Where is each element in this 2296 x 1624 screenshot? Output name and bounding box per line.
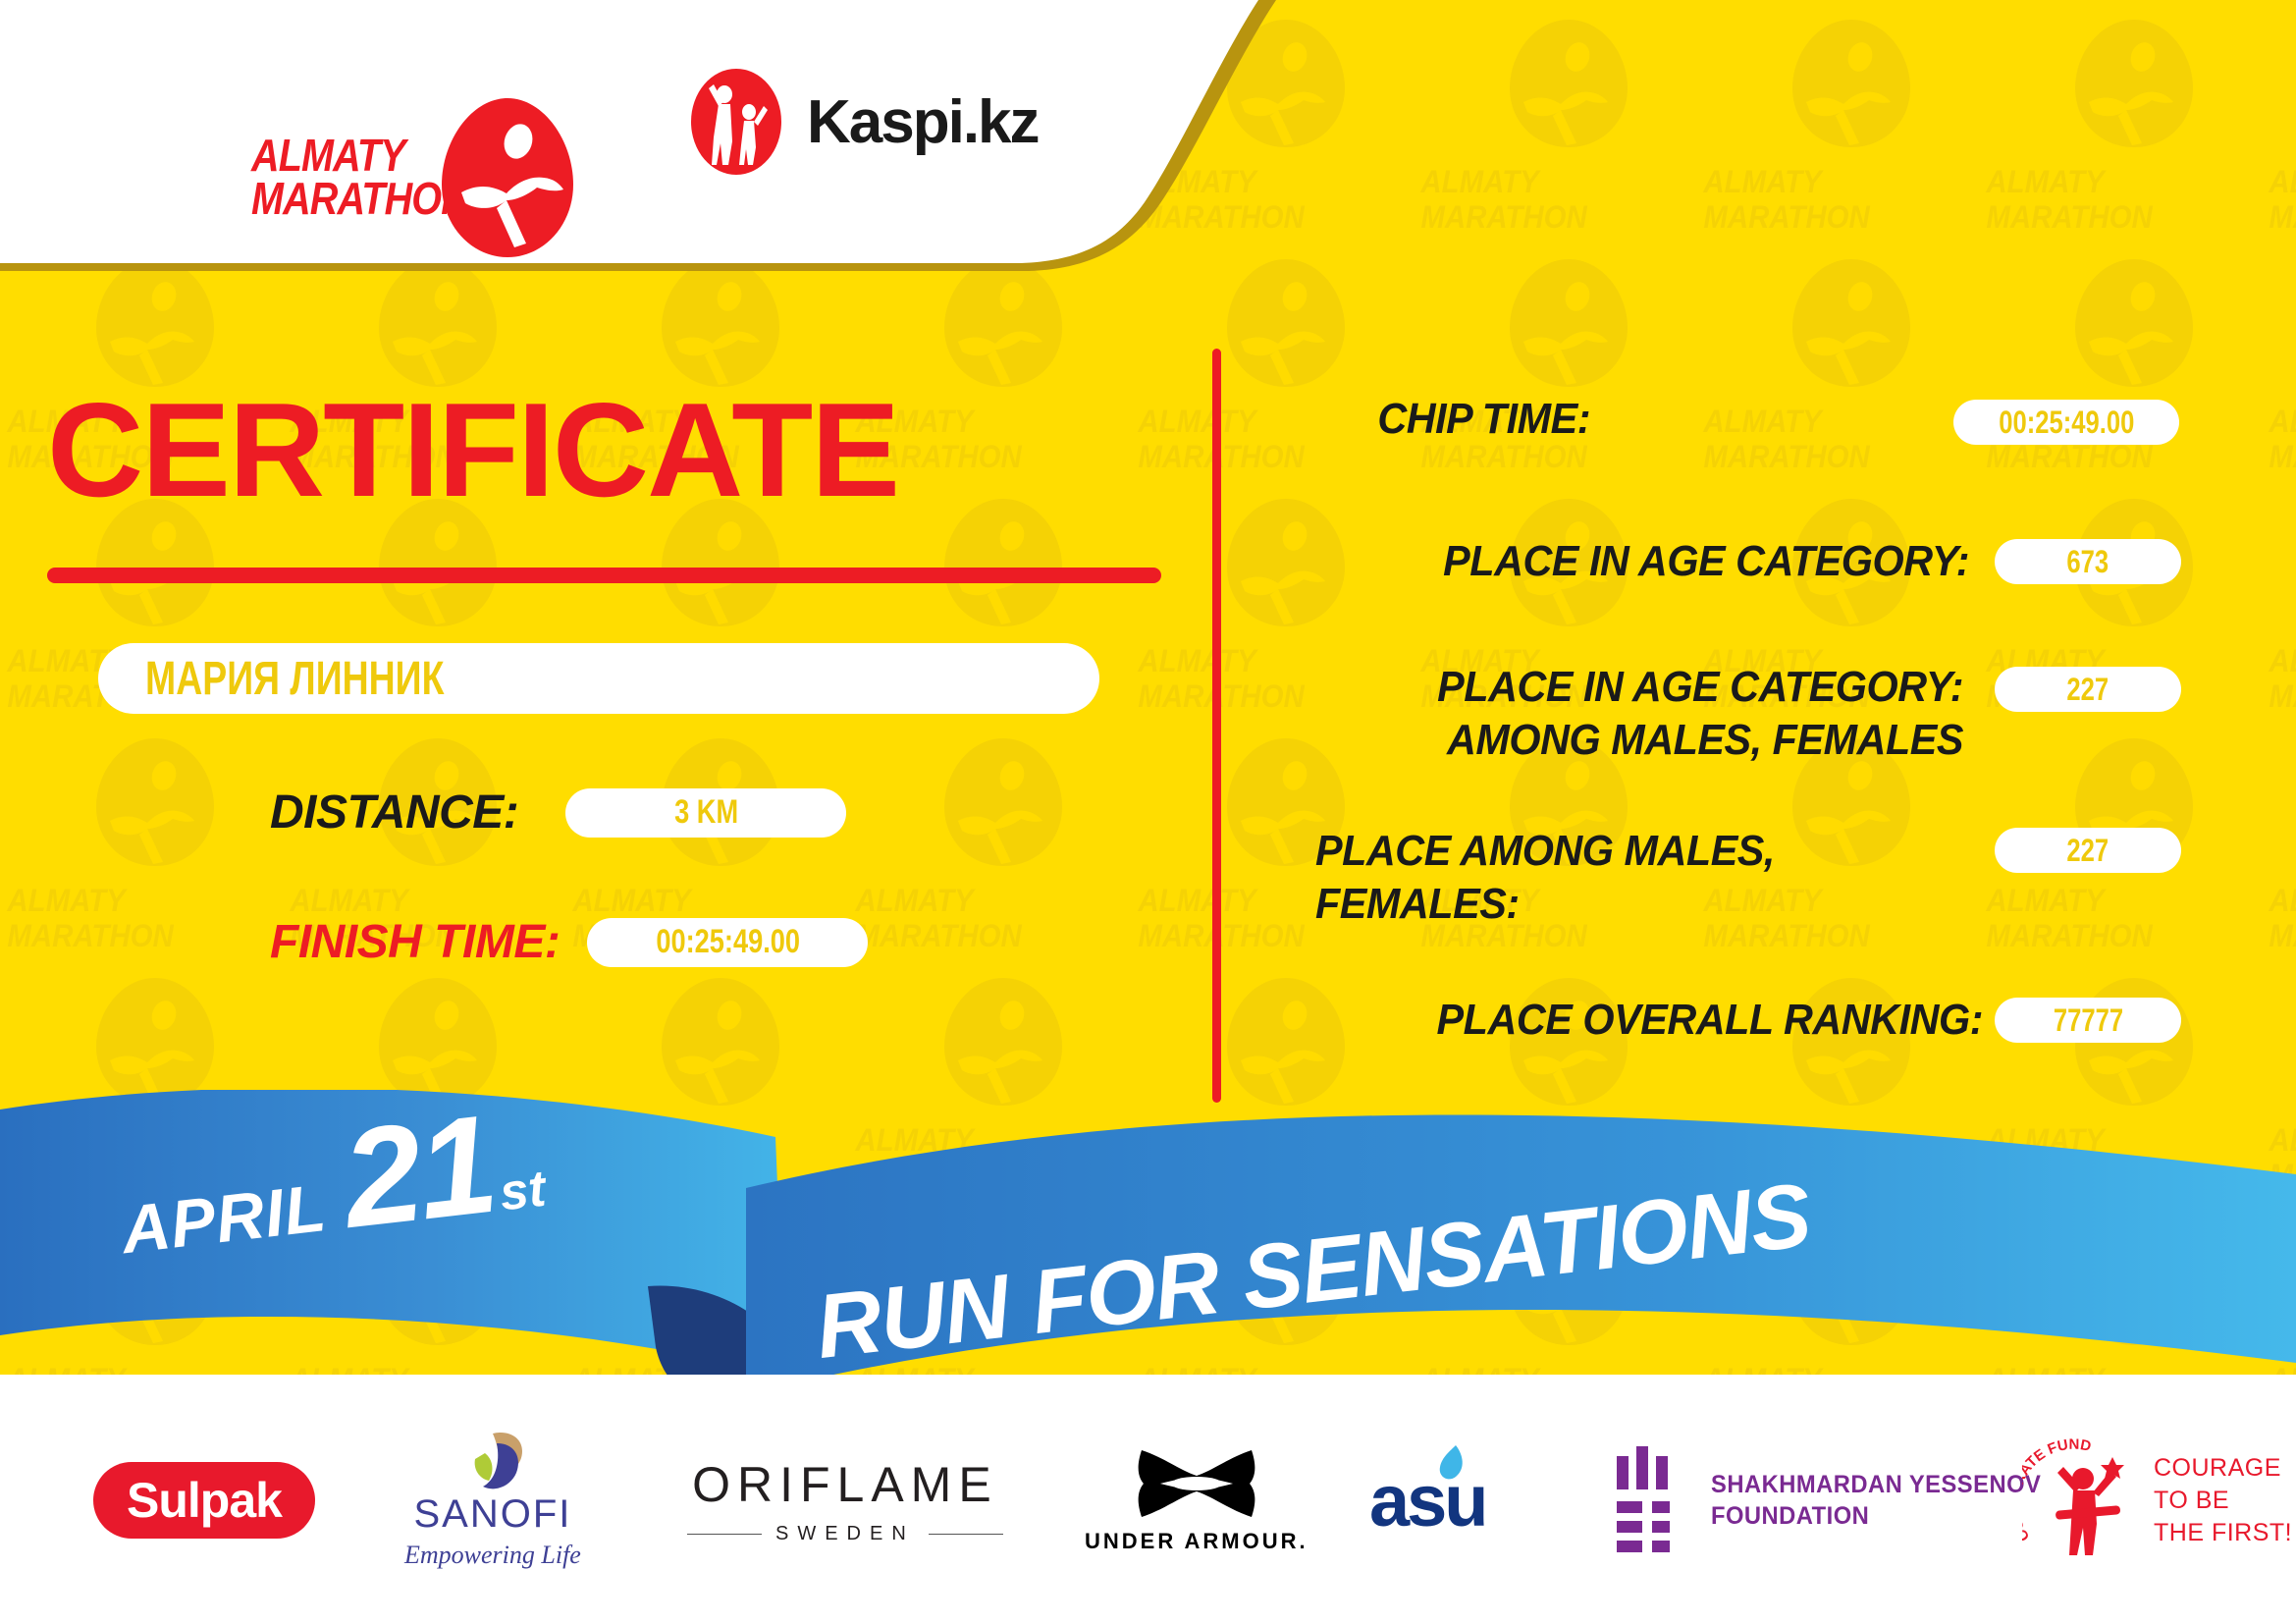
result-place-age-category-among-value: 227 xyxy=(2067,672,2109,708)
oriflame-wordmark: ORIFLAME xyxy=(692,1456,998,1513)
result-chip-time-value: 00:25:49.00 xyxy=(1999,405,2134,441)
field-finish-time: FINISH TIME: 00:25:49.00 xyxy=(270,915,868,969)
result-place-overall-ranking-pill: 77777 xyxy=(1995,998,2181,1043)
courage-wordmark: COURAGE TO BE THE FIRST! xyxy=(2154,1452,2292,1549)
almaty-marathon-logo: ALMATY MARATHON xyxy=(126,47,450,204)
yessenov-wordmark: SHAKHMARDAN YESSENOV FOUNDATION xyxy=(1711,1469,2041,1532)
sponsor-bar: Sulpak SANOFI Empowering Life ORIFLAME S… xyxy=(0,1422,2296,1579)
under-armour-wordmark: UNDER ARMOUR. xyxy=(1085,1529,1308,1554)
result-place-age-category-among-label: PLACE IN AGE CATEGORY: AMONG MALES, FEMA… xyxy=(1355,661,1963,767)
kaspi-person-icon xyxy=(687,67,785,177)
sanofi-wordmark: SANOFI xyxy=(413,1492,571,1537)
page-title: CERTIFICATE xyxy=(47,383,898,516)
oriflame-rule-left xyxy=(687,1534,762,1535)
sponsor-yessenov: SHAKHMARDAN YESSENOV FOUNDATION xyxy=(1615,1422,2058,1579)
courage-line-1: COURAGE xyxy=(2154,1452,2292,1485)
column-divider xyxy=(1212,349,1221,1103)
result-chip-time-label: CHIP TIME: xyxy=(1332,393,1590,446)
courage-line-3: THE FIRST! xyxy=(2154,1517,2292,1549)
courage-runner-icon: CORPORATE FUND xyxy=(2022,1437,2138,1563)
asu-droplet-icon xyxy=(1434,1443,1468,1485)
result-place-overall-ranking-value: 77777 xyxy=(2053,1002,2122,1039)
field-distance: DISTANCE: 3 KM xyxy=(270,785,846,839)
courage-line-2: TO BE xyxy=(2154,1485,2292,1517)
result-place-among-males-females-pill: 227 xyxy=(1995,828,2181,873)
sponsor-oriflame: ORIFLAME SWEDEN xyxy=(687,1422,1003,1579)
asu-wordmark: asu xyxy=(1369,1459,1486,1543)
result-place-among-males-females-value: 227 xyxy=(2067,833,2109,869)
kaspi-wordmark: Kaspi.kz xyxy=(807,87,1039,157)
yessenov-bars-icon xyxy=(1615,1446,1685,1554)
sponsor-courage-fund: CORPORATE FUND COURAGE TO BE THE FIRST! xyxy=(2022,1422,2292,1579)
under-armour-logo-icon xyxy=(1132,1446,1261,1521)
participant-name: МАРИЯ ЛИННИК xyxy=(145,648,444,711)
field-finish-time-label: FINISH TIME: xyxy=(270,915,560,969)
oriflame-subtitle-row: SWEDEN xyxy=(687,1523,1003,1545)
oriflame-rule-right xyxy=(929,1534,1003,1535)
almaty-marathon-runner-drop-icon xyxy=(438,94,577,261)
header-logos: ALMATY MARATHON xyxy=(0,0,1374,295)
result-place-overall-ranking-label: PLACE OVERALL RANKING: xyxy=(1356,994,1983,1047)
certificate-canvas: ALMATY MARATHON ALMATY MARATHON xyxy=(0,0,2296,1624)
oriflame-subtitle: SWEDEN xyxy=(775,1523,915,1545)
event-day-ordinal: st xyxy=(497,1160,549,1223)
result-place-age-category-value: 673 xyxy=(2067,544,2109,580)
result-place-age-category-label: PLACE IN AGE CATEGORY: xyxy=(1355,535,1969,588)
result-place-among-males-females-label: PLACE AMONG MALES, FEMALES: xyxy=(1315,825,1888,931)
field-finish-time-value: 00:25:49.00 xyxy=(656,923,800,961)
field-distance-pill: 3 KM xyxy=(565,788,846,838)
sanofi-tagline: Empowering Life xyxy=(404,1541,581,1570)
sponsor-under-armour: UNDER ARMOUR. xyxy=(1085,1422,1308,1579)
field-finish-time-pill: 00:25:49.00 xyxy=(587,918,868,967)
sulpak-wordmark: Sulpak xyxy=(93,1462,315,1539)
sanofi-bird-icon xyxy=(457,1432,528,1492)
field-distance-label: DISTANCE: xyxy=(270,785,518,839)
result-place-age-category-pill: 673 xyxy=(1995,539,2181,584)
result-place-age-category-among-pill: 227 xyxy=(1995,667,2181,712)
result-chip-time-pill: 00:25:49.00 xyxy=(1953,400,2179,445)
yessenov-line-1: SHAKHMARDAN YESSENOV xyxy=(1711,1469,2041,1500)
kaspi-logo: Kaspi.kz xyxy=(687,67,1039,177)
title-underline xyxy=(47,568,1161,583)
field-distance-value: 3 KM xyxy=(674,793,738,832)
sponsor-sanofi: SANOFI Empowering Life xyxy=(404,1422,581,1579)
sponsor-sulpak: Sulpak xyxy=(93,1422,315,1579)
yessenov-line-2: FOUNDATION xyxy=(1711,1500,2041,1532)
event-day: 21 xyxy=(339,1109,500,1236)
sponsor-asu: asu xyxy=(1369,1422,1486,1579)
